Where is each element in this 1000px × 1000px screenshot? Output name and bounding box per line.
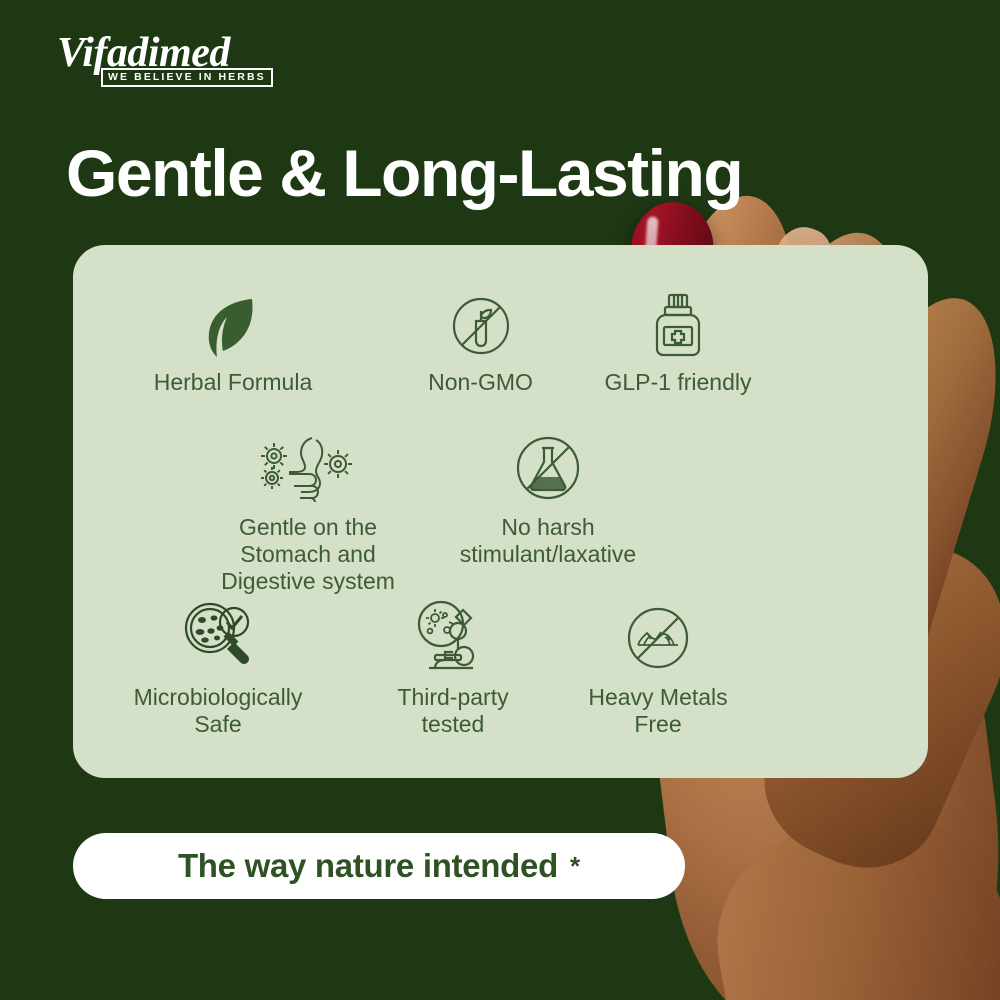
tagline-text: The way nature intended bbox=[178, 847, 558, 885]
feature-card: Herbal Formula Non-GMO bbox=[73, 245, 928, 778]
feature-label: Microbiologically Safe bbox=[73, 684, 363, 738]
brand-logo: Vifadimed WE BELIEVE IN HERBS bbox=[57, 32, 267, 74]
medicine-bottle-icon bbox=[553, 285, 803, 361]
feature-item-heavy-metals-free: Heavy Metals Free bbox=[528, 600, 788, 738]
asterisk-mark: * bbox=[570, 851, 580, 882]
tagline-banner: The way nature intended * bbox=[73, 833, 685, 899]
promo-graphic: Vifadimed WE BELIEVE IN HERBS Gentle & L… bbox=[0, 0, 1000, 1000]
feature-item-herbal-formula: Herbal Formula bbox=[83, 285, 383, 396]
feature-label: Heavy Metals Free bbox=[528, 684, 788, 738]
feature-item-glp1-friendly: GLP-1 friendly bbox=[553, 285, 803, 396]
feature-label: No harsh stimulant/laxative bbox=[413, 514, 683, 568]
feature-label: GLP-1 friendly bbox=[553, 369, 803, 396]
brand-tagline: WE BELIEVE IN HERBS bbox=[101, 68, 273, 87]
feature-item-no-harsh-stimulant: No harsh stimulant/laxative bbox=[413, 430, 683, 568]
no-flask-icon bbox=[413, 430, 683, 506]
feature-label: Herbal Formula bbox=[83, 369, 383, 396]
no-heavy-metals-icon bbox=[528, 600, 788, 676]
petri-magnifier-icon bbox=[73, 600, 363, 676]
page-title: Gentle & Long-Lasting bbox=[66, 135, 742, 211]
feature-grid: Herbal Formula Non-GMO bbox=[73, 245, 773, 778]
feature-item-microbiologically-safe: Microbiologically Safe bbox=[73, 600, 363, 738]
leaf-icon bbox=[83, 285, 383, 361]
